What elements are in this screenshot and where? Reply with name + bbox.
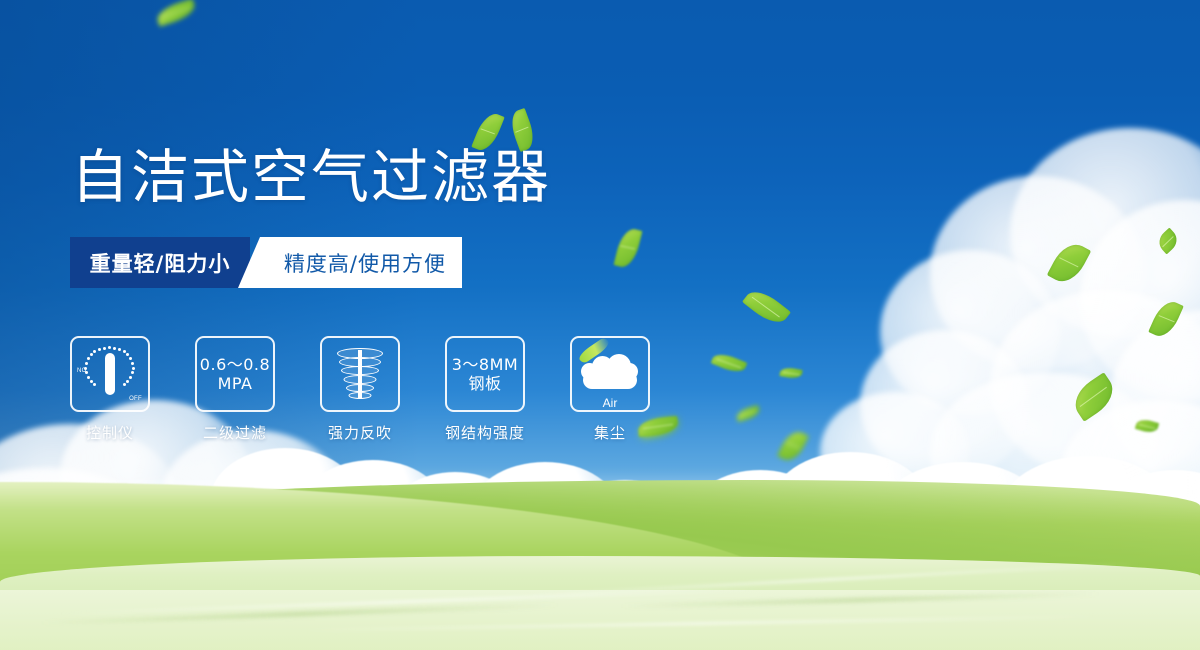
feature-label: 控制仪 <box>86 422 134 443</box>
feature-item-steel[interactable]: 3～8MM 钢板 钢结构强度 <box>445 336 525 443</box>
steel-thickness: 3～8MM <box>452 355 518 374</box>
dial-on-label: NO <box>77 368 87 374</box>
dial-pointer <box>105 353 115 395</box>
control-dial-icon: NO OFF <box>79 344 141 404</box>
subtitle-right-panel: 精度高/使用方便 <box>238 237 462 288</box>
feature-item-blowback[interactable]: 强力反吹 <box>320 336 400 443</box>
feature-icon-box: NO OFF <box>70 336 150 412</box>
cloud-air-caption: Air <box>579 396 641 410</box>
feature-item-control[interactable]: NO OFF 控制仪 <box>70 336 150 443</box>
steel-plate-text-icon: 3～8MM 钢板 <box>452 355 518 393</box>
feature-label: 二级过滤 <box>203 422 267 443</box>
pressure-text-icon: 0.6～0.8 MPA <box>200 355 270 393</box>
subtitle-left-text: 重量轻/阻力小 <box>90 248 231 278</box>
page-title: 自洁式空气过滤器 <box>71 146 551 208</box>
subtitle-right-text: 精度高/使用方便 <box>284 248 446 278</box>
feature-icon-box: 0.6～0.8 MPA <box>195 336 275 412</box>
feature-icon-box <box>320 336 400 412</box>
feature-label: 钢结构强度 <box>445 422 525 443</box>
cloud-base <box>583 371 637 389</box>
air-cloud-icon: Air <box>579 351 641 397</box>
subtitle-left-panel: 重量轻/阻力小 <box>70 237 250 288</box>
steel-material: 钢板 <box>452 374 518 393</box>
pressure-value: 0.6～0.8 <box>200 355 270 374</box>
feature-label: 集尘 <box>594 422 626 443</box>
airflow-stack-icon <box>335 346 385 402</box>
feature-item-pressure[interactable]: 0.6～0.8 MPA 二级过滤 <box>195 336 275 443</box>
feature-list: NO OFF 控制仪 0.6～0.8 MPA 二级过滤 <box>70 336 650 443</box>
pressure-unit: MPA <box>200 374 270 393</box>
feature-icon-box: 3～8MM 钢板 <box>445 336 525 412</box>
dial-off-label: OFF <box>129 396 142 402</box>
feature-label: 强力反吹 <box>328 422 392 443</box>
product-banner: 自洁式空气过滤器 重量轻/阻力小 精度高/使用方便 <box>0 0 1200 650</box>
feature-icon-box: Air <box>570 336 650 412</box>
